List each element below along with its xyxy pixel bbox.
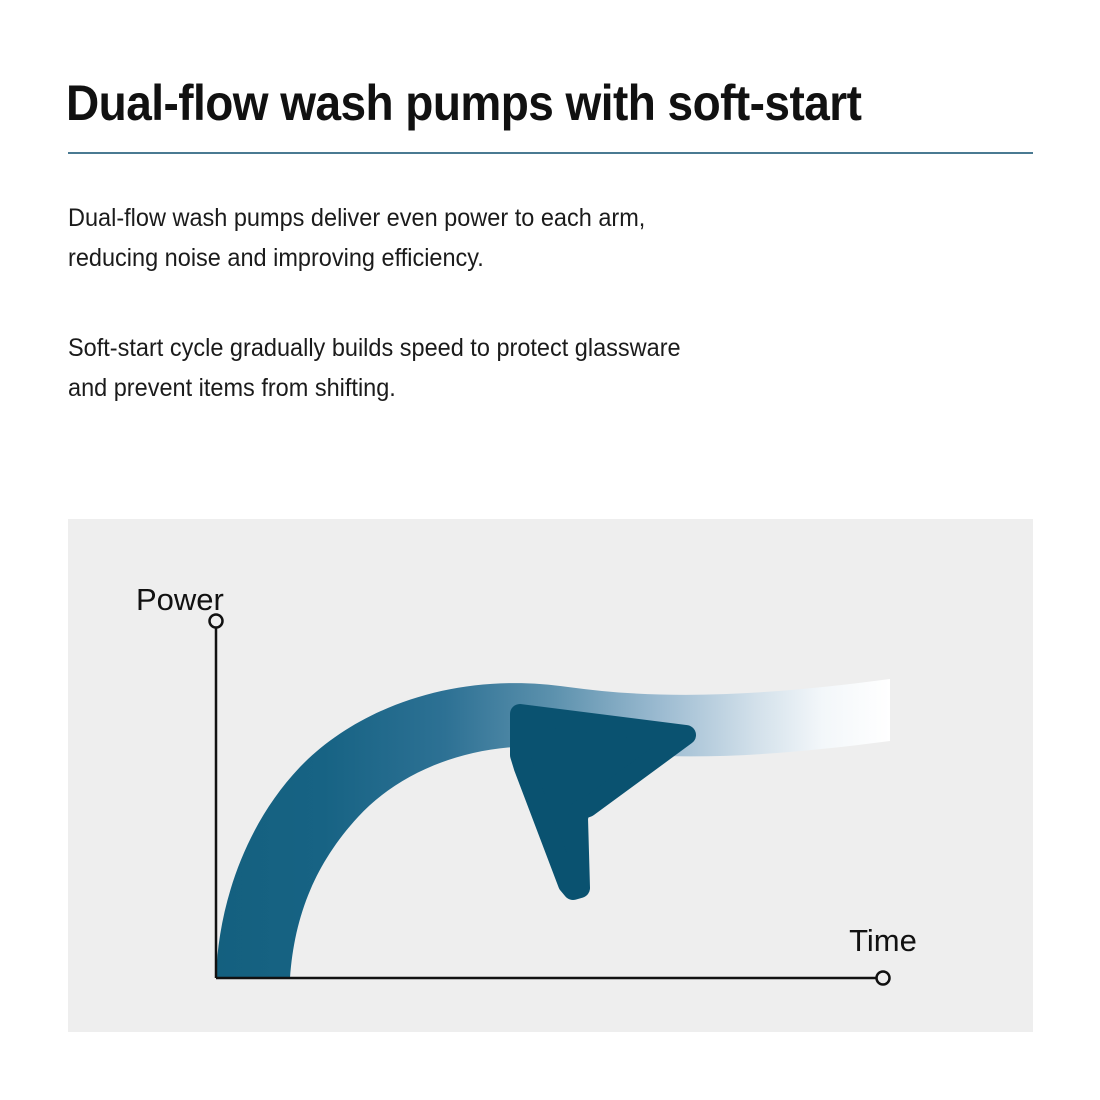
- y-axis-label: Power: [136, 582, 224, 617]
- diagram-panel: Power Time: [68, 519, 1033, 1032]
- body-paragraph-2: Soft-start cycle gradually builds speed …: [68, 328, 914, 408]
- ramp-arrowhead-icon: [520, 714, 686, 890]
- x-axis-label: Time: [849, 923, 917, 958]
- title-divider: [68, 152, 1033, 154]
- x-axis-endpoint-marker: [877, 972, 890, 985]
- page-title: Dual-flow wash pumps with soft-start: [66, 72, 968, 134]
- body-paragraph-1: Dual-flow wash pumps deliver even power …: [68, 198, 914, 278]
- page-root: Dual-flow wash pumps with soft-start Dua…: [0, 0, 1100, 1100]
- soft-start-chart: Power Time: [68, 519, 1033, 1032]
